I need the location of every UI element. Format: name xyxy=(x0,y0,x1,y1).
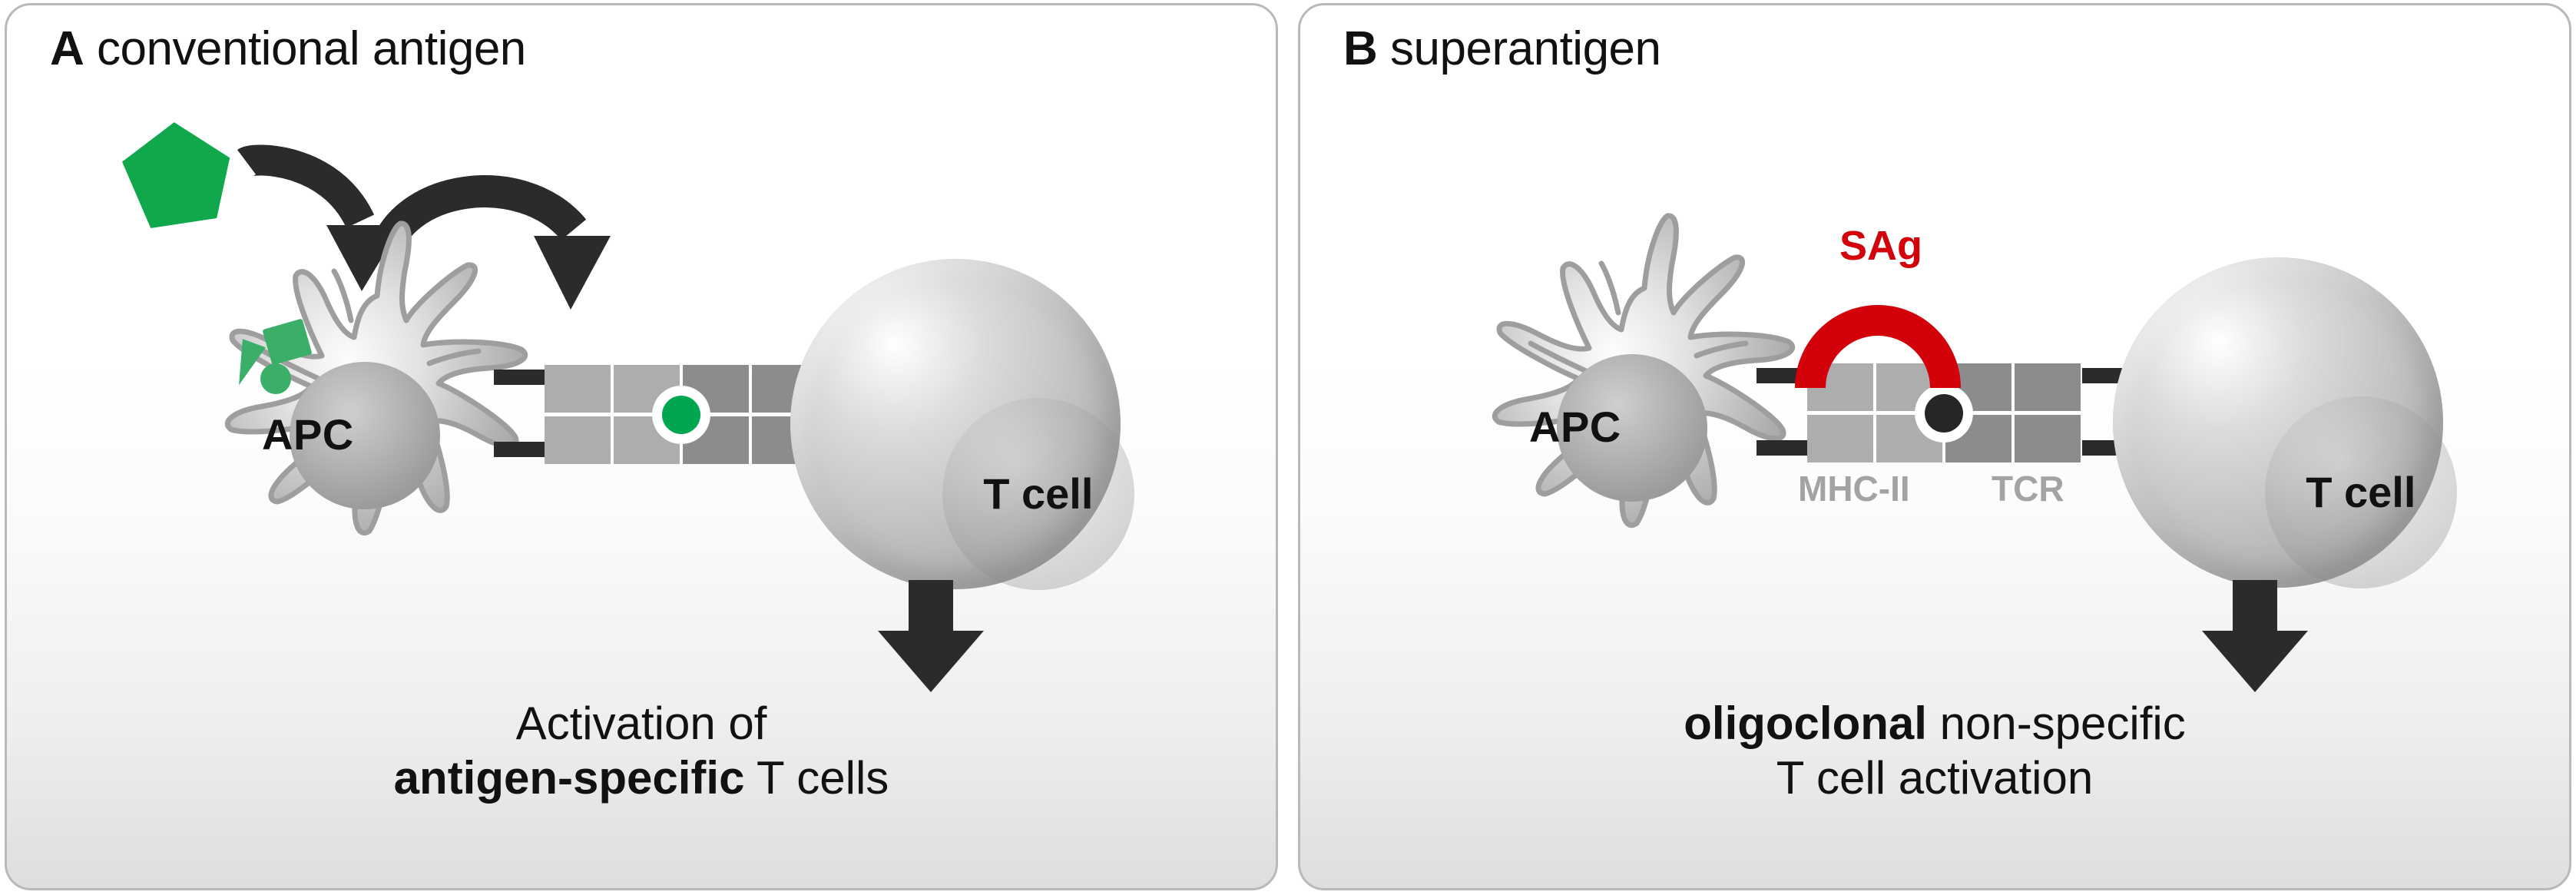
mhc-tcr-complex-a xyxy=(545,365,818,464)
caption-line-2: antigen-specific T cells xyxy=(7,751,1276,806)
caption-line-1: oligoclonal non-specific xyxy=(1300,697,2569,751)
tcr-brick xyxy=(2015,363,2081,411)
mhc-tcr-bricks xyxy=(545,365,818,464)
antigen-fragment-dot-icon xyxy=(260,363,291,394)
tcr-brick xyxy=(2015,415,2081,462)
t-cell-sphere: T cell xyxy=(790,259,1121,589)
figure-root: A conventional antigen xyxy=(0,0,2576,895)
panel-a-stage: APC xyxy=(7,5,1276,888)
panel-b-stage: APC SAg xyxy=(1300,5,2569,888)
mhc-stem-lower xyxy=(494,442,549,457)
mhc-stem-upper xyxy=(494,370,549,385)
panel-conventional-antigen: A conventional antigen xyxy=(5,3,1278,890)
mhc-stem-lower xyxy=(1757,440,1812,456)
caption-a-line1: Activation of xyxy=(516,698,767,749)
caption-b-line1-bold: oligoclonal xyxy=(1684,698,1927,749)
caption-line-2: T cell activation xyxy=(1300,751,2569,806)
t-cell-label: T cell xyxy=(2306,467,2415,517)
t-cell-sphere: T cell xyxy=(2113,257,2443,588)
caption-b-line2: T cell activation xyxy=(1776,752,2093,804)
epitope-core-black xyxy=(1925,394,1963,433)
caption-a-line2-bold: antigen-specific xyxy=(394,752,745,804)
t-cell-nucleus: T cell xyxy=(2265,396,2457,588)
epitope-marker xyxy=(1915,384,1973,443)
panel-superantigen: B superantigen xyxy=(1298,3,2571,890)
outcome-arrow-icon xyxy=(873,580,988,694)
outcome-arrow-icon xyxy=(2197,580,2313,694)
mhc-brick xyxy=(545,416,611,464)
caption-a-line2-normal: T cells xyxy=(744,752,889,804)
panel-b-caption: oligoclonal non-specific T cell activati… xyxy=(1300,697,2569,806)
mhc-ii-label: MHC-II xyxy=(1798,468,1910,509)
epitope-core-green xyxy=(662,396,700,434)
sag-bridge-icon xyxy=(1793,303,1962,389)
t-cell-nucleus: T cell xyxy=(942,398,1134,590)
t-cell-label: T cell xyxy=(983,469,1093,519)
caption-line-1: Activation of xyxy=(7,697,1276,751)
epitope-marker xyxy=(652,386,710,444)
caption-b-line1-normal: non-specific xyxy=(1927,698,2186,749)
mhc-brick xyxy=(545,365,611,413)
tcr-label: TCR xyxy=(1992,468,2064,509)
panel-a-caption: Activation of antigen-specific T cells xyxy=(7,697,1276,806)
sag-label: SAg xyxy=(1839,222,1922,270)
mhc-brick xyxy=(1807,415,1873,462)
